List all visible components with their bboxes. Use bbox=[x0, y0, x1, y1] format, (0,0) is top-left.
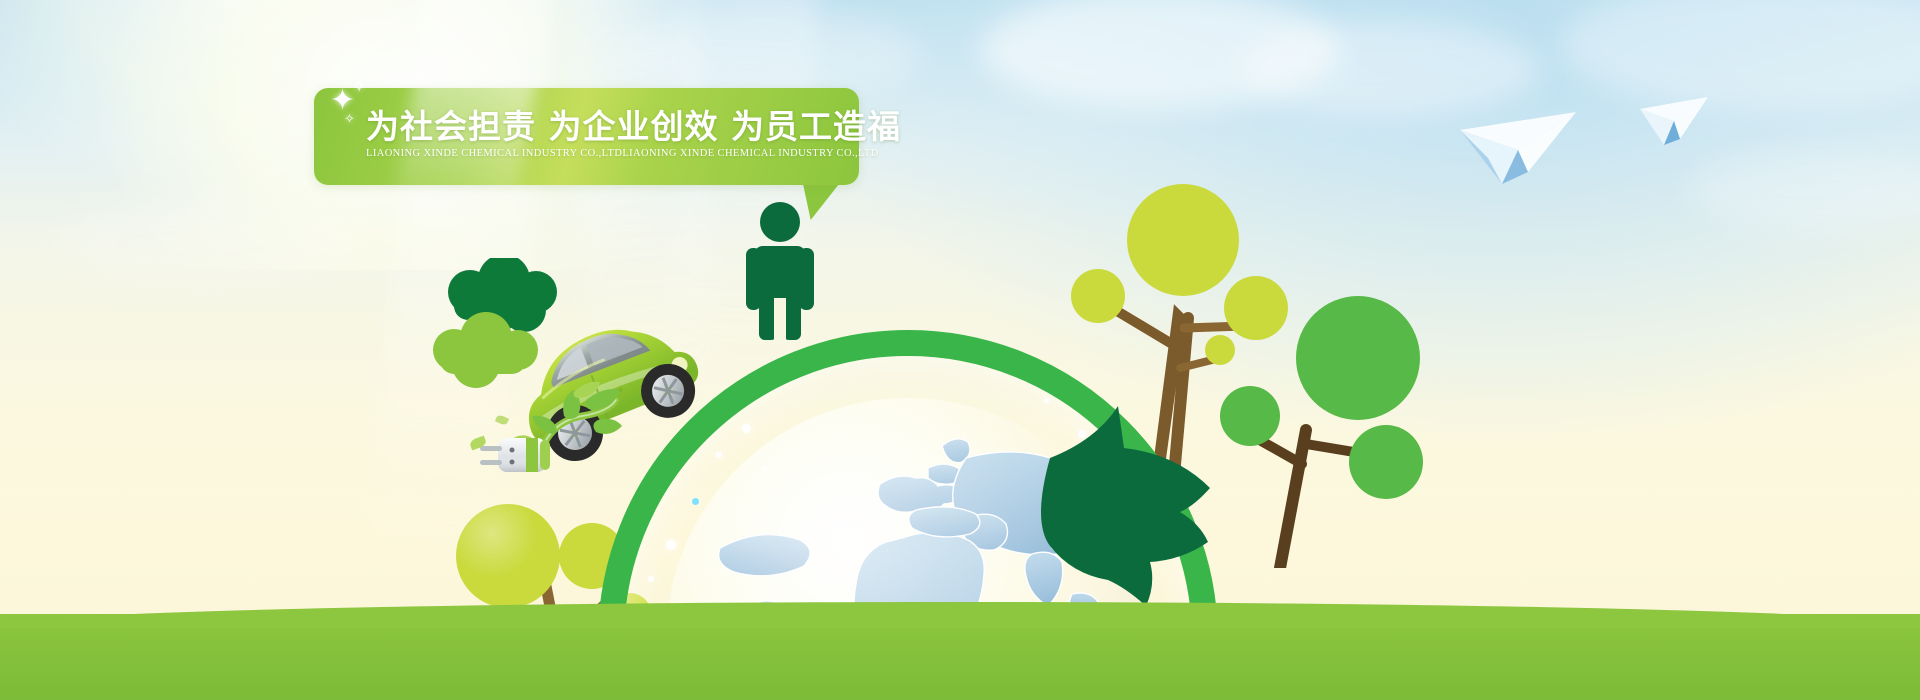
sparkle-icon: ✧ bbox=[344, 112, 355, 125]
banner-subline: LIAONING XINDE CHEMICAL INDUSTRY CO.,LTD… bbox=[366, 148, 846, 159]
tree-right-green bbox=[1218, 278, 1468, 573]
dark-green-leaf-arrow bbox=[1012, 396, 1252, 631]
sparkle-dot bbox=[666, 540, 676, 550]
green-ground-strip bbox=[0, 614, 1920, 700]
cloud bbox=[60, 200, 360, 286]
paper-plane-small-icon bbox=[1638, 95, 1716, 155]
eco-banner: ✦ ✧ ✧ 为社会担责 为企业创效 为员工造福 LIAONING XINDE C… bbox=[0, 0, 1920, 700]
person-pictogram bbox=[744, 200, 816, 345]
sparkle-dot bbox=[692, 498, 699, 505]
sparkle-icon: ✧ bbox=[352, 78, 366, 95]
cloud bbox=[1240, 20, 1540, 116]
sparkle-dot bbox=[648, 576, 654, 582]
banner-headline: 为社会担责 为企业创效 为员工造福 bbox=[366, 100, 856, 148]
sparkle-dot bbox=[762, 466, 767, 471]
sparkle-dot bbox=[742, 424, 751, 433]
paper-plane-large-icon bbox=[1458, 108, 1588, 188]
power-plug-icon bbox=[478, 376, 628, 486]
